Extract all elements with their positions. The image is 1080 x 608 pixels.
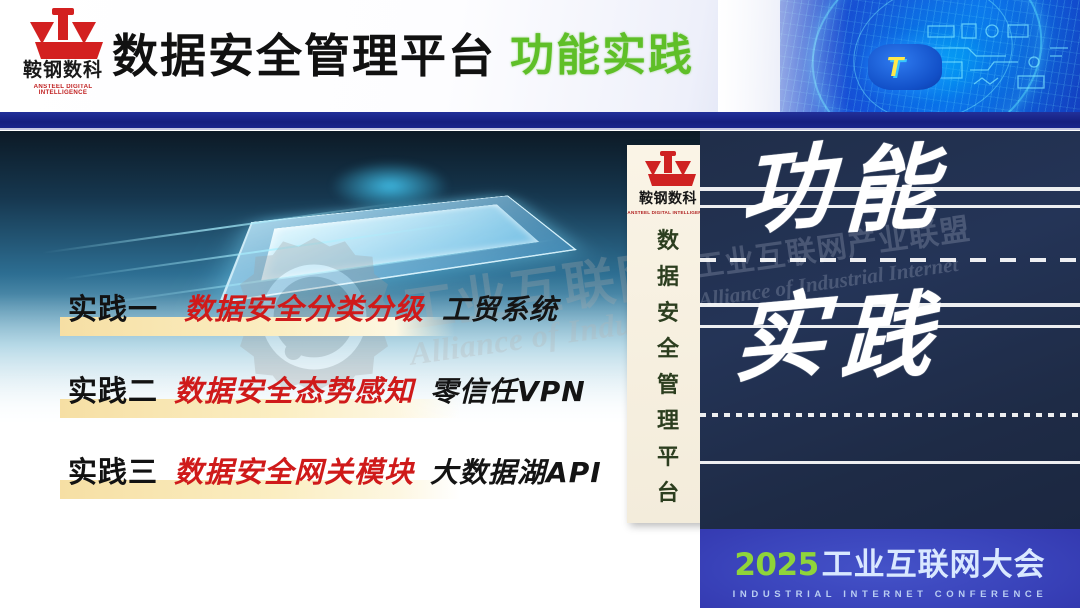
title-accent-text: 功能实践: [510, 34, 694, 78]
vertical-banner: 鞍钢数科 ANSTEEL DIGITAL INTELLIGENCE 数 据 安 …: [627, 145, 709, 523]
tech-t-glyph: T: [886, 53, 903, 81]
road-line-dashed: [700, 258, 1080, 262]
practice-system: 零信任VPN: [430, 370, 586, 410]
banner-char: 平: [627, 439, 709, 475]
practice-index: 实践一: [68, 286, 158, 328]
practice-index: 实践三: [68, 449, 158, 491]
banner-vertical-text: 数 据 安 全 管 理 平 台: [627, 223, 709, 511]
calligraphy-line-2: 实践: [734, 291, 946, 383]
practice-system: 工贸系统: [442, 288, 558, 328]
banner-char: 据: [627, 259, 709, 295]
practice-system: 大数据湖API: [430, 451, 602, 491]
banner-char: 全: [627, 331, 709, 367]
conference-name-en: INDUSTRIAL INTERNET CONFERENCE: [700, 589, 1080, 600]
banner-logo-en: ANSTEEL DIGITAL INTELLIGENCE: [627, 210, 709, 215]
practice-index: 实践二: [68, 368, 158, 410]
slide-header: T 鞍钢数科 ANSTEEL DIGITAL INTELLIGENCE 数据安全…: [0, 0, 1080, 112]
banner-logo: 鞍钢数科 ANSTEEL DIGITAL INTELLIGENCE: [627, 151, 709, 215]
calligraphy-panel: 工业互联网产业联盟 Alliance of Industrial Interne…: [700, 131, 1080, 529]
practice-highlight: 数据安全态势感知: [174, 368, 414, 410]
conference-year: 2025: [734, 547, 818, 583]
company-logo-cn: 鞍钢数科: [18, 61, 108, 82]
company-logo: 鞍钢数科 ANSTEEL DIGITAL INTELLIGENCE: [18, 8, 108, 104]
tech-t-badge: T: [868, 44, 942, 90]
calligraphy-char: 践: [839, 287, 948, 387]
header-fade: [718, 0, 848, 112]
tech-circuit-icons: [922, 18, 1072, 98]
slide-body: 工业互联网产业联盟 Alliance of Industrial Interne…: [0, 131, 1080, 608]
practice-highlight: 数据安全网关模块: [174, 449, 414, 491]
calligraphy-char: 实: [732, 286, 842, 388]
anshan-steel-logo-icon: [643, 151, 693, 187]
slide: T 鞍钢数科 ANSTEEL DIGITAL INTELLIGENCE 数据安全…: [0, 0, 1080, 608]
company-logo-en: ANSTEEL DIGITAL INTELLIGENCE: [17, 84, 109, 96]
calligraphy-char: 功: [739, 137, 844, 241]
practice-list: 实践一 数据安全分类分级 工贸系统 实践二 数据安全态势感知 零信任VPN: [0, 131, 640, 608]
conference-name-cn: 工业互联网大会: [822, 539, 1046, 584]
slide-title: 数据安全管理平台 功能实践: [112, 16, 694, 96]
banner-char: 数: [627, 223, 709, 259]
banner-char: 台: [627, 475, 709, 511]
banner-logo-cn: 鞍钢数科: [627, 188, 709, 208]
banner-char: 安: [627, 295, 709, 331]
calligraphy-line-1: 功能: [740, 143, 948, 235]
road-line-solid: [700, 461, 1080, 464]
conference-logo: 2025 工业互联网大会 INDUSTRIAL INTERNET CONFERE…: [700, 529, 1080, 608]
practice-highlight: 数据安全分类分级: [184, 286, 424, 328]
road-line-dotted: [700, 413, 1080, 417]
calligraphy-char: 能: [842, 140, 949, 238]
anshan-steel-logo-icon: [27, 8, 99, 60]
title-main-text: 数据安全管理平台: [112, 33, 496, 79]
banner-char: 管: [627, 367, 709, 403]
banner-char: 理: [627, 403, 709, 439]
